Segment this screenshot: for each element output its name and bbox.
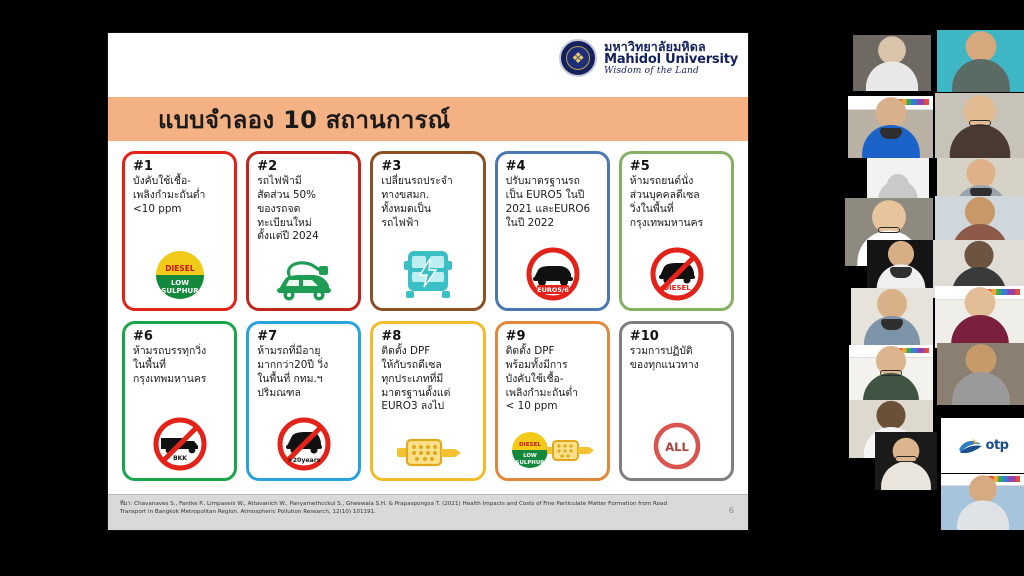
slide-header: ❖ มหาวิทยาลัยมหิดล Mahidol University Wi…: [108, 33, 748, 97]
scenario-card: #2รถไฟฟ้ามี สัดส่วน 50% ของรถจด ทะเบียนใ…: [246, 151, 361, 311]
svg-text:ALL: ALL: [665, 440, 689, 454]
participant-figure: [866, 37, 918, 91]
scenario-icon: BKK: [133, 387, 227, 477]
scenario-number: #5: [630, 160, 724, 174]
svg-text:DIESEL: DIESEL: [663, 284, 691, 292]
scenario-description: ติดตั้ง DPF ให้กับรถดีเซล ทุกประเภทที่มี…: [381, 345, 475, 414]
participant-figure: [956, 476, 1008, 530]
all-circle-icon: ALL: [650, 419, 704, 473]
scenario-number: #9: [506, 330, 600, 344]
participant-tile-1[interactable]: [853, 35, 931, 91]
scenario-number: #4: [506, 160, 600, 174]
participant-figure: [881, 438, 931, 490]
otp-logo-text: otp: [986, 438, 1009, 453]
participant-tile-11[interactable]: [851, 288, 933, 348]
scenario-card: #5ห้ามรถยนต์นั่ง ส่วนบุคคลดีเซล วิ่งในพื…: [619, 151, 734, 311]
scenario-card: #7ห้ามรถที่มีอายุ มากกว่า20ปี วิ่ง ในพื้…: [246, 321, 361, 481]
participant-tile-9[interactable]: [867, 240, 935, 292]
scenario-number: #1: [133, 160, 227, 174]
svg-text:SULPHUR: SULPHUR: [161, 287, 199, 295]
source-citation: ที่มา: Chavanaves S., Fantke P., Limpase…: [120, 500, 695, 517]
scenario-card: #6ห้ามรถบรรทุกวิ่ง ในพื้นที่ กรุงเทพมหาน…: [122, 321, 237, 481]
scenario-card: #3เปลี่ยนรถประจำ ทางขสมก. ทั้งหมดเป็น รถ…: [370, 151, 485, 311]
scenario-number: #10: [630, 330, 724, 344]
participant-tile-otp[interactable]: otp: [941, 418, 1024, 473]
scenario-description: ปรับมาตรฐานรถ เป็น EURO5 ในปี 2021 และEU…: [506, 175, 600, 230]
scenario-number: #3: [381, 160, 475, 174]
no-diesel-car-sign-icon: DIESEL: [648, 245, 706, 303]
eyeglasses: [969, 120, 991, 126]
scenario-description: ห้ามรถที่มีอายุ มากกว่า20ปี วิ่ง ในพื้นท…: [257, 345, 351, 400]
scenario-card: #4ปรับมาตรฐานรถ เป็น EURO5 ในปี 2021 และ…: [495, 151, 610, 311]
scenario-icon: >20years: [257, 400, 351, 476]
participant-figure: [951, 288, 1009, 348]
participant-tile-12[interactable]: [935, 286, 1024, 348]
electric-car-charging-icon: [271, 255, 337, 303]
eyeglasses: [895, 456, 917, 462]
scenario-description: บังคับใช้เชื้อ- เพลิงกำมะถันต่ำ <10 ppm: [133, 175, 227, 216]
slide-title-bar: แบบจำลอง 10 สถานการณ์: [108, 97, 748, 141]
scenario-card: #1บังคับใช้เชื้อ- เพลิงกำมะถันต่ำ <10 pp…: [122, 151, 237, 311]
slide-footer: ที่มา: Chavanaves S., Fantke P., Limpase…: [108, 494, 748, 530]
svg-text:EURO5/6: EURO5/6: [537, 286, 569, 294]
svg-text:LOW: LOW: [523, 453, 537, 459]
face-mask: [880, 128, 902, 139]
otp-logo-icon: [957, 436, 983, 456]
participant-tile-16[interactable]: [875, 432, 937, 490]
scenario-description: ห้ามรถยนต์นั่ง ส่วนบุคคลดีเซล วิ่งในพื้น…: [630, 175, 724, 230]
scenario-card: #9ติดตั้ง DPF พร้อมทั้งมีการ บังคับใช้เช…: [495, 321, 610, 481]
scenario-card: #10รวมการปฏิบัติ ของทุกแนวทาง ALL: [619, 321, 734, 481]
participant-figure: [949, 95, 1009, 158]
scenario-card: #8ติดตั้ง DPF ให้กับรถดีเซล ทุกประเภทที่…: [370, 321, 485, 481]
svg-text:DIESEL: DIESEL: [165, 264, 195, 273]
eyeglasses: [880, 370, 902, 376]
mahidol-seal-icon: ❖: [559, 39, 597, 77]
diesel-low-sulphur-badge: DIESEL LOW SULPHUR: [152, 247, 208, 303]
svg-text:>20years: >20years: [288, 457, 321, 464]
electric-bus-icon: [402, 247, 454, 303]
mahidol-university-logo: ❖ มหาวิทยาลัยมหิดล Mahidol University Wi…: [559, 39, 738, 77]
face-mask: [881, 319, 903, 330]
participant-tile-14[interactable]: [937, 343, 1024, 405]
svg-text:LOW: LOW: [171, 279, 189, 287]
slide-body: #1บังคับใช้เชื้อ- เพลิงกำมะถันต่ำ <10 pp…: [108, 141, 748, 494]
scenario-icon: EURO5/6: [506, 230, 600, 306]
participant-tile-3[interactable]: [848, 96, 933, 158]
scenario-number: #8: [381, 330, 475, 344]
no-car-euro-sign-icon: EURO5/6: [524, 245, 582, 303]
scenario-number: #7: [257, 330, 351, 344]
scenario-description: เปลี่ยนรถประจำ ทางขสมก. ทั้งหมดเป็น รถไฟ…: [381, 175, 475, 230]
participant-tile-13[interactable]: [849, 345, 933, 405]
scenario-description: รวมการปฏิบัติ ของทุกแนวทาง: [630, 345, 724, 372]
scenario-icon: [381, 230, 475, 306]
scenario-icon: ALL: [630, 373, 724, 476]
face-mask: [890, 267, 912, 278]
slide-title: แบบจำลอง 10 สถานการณ์: [158, 100, 450, 139]
scenario-grid: #1บังคับใช้เชื้อ- เพลิงกำมะถันต่ำ <10 pp…: [122, 151, 734, 481]
logo-english-name: Mahidol University: [604, 53, 738, 67]
participant-video-rail[interactable]: otp: [845, 0, 1024, 576]
scenario-description: ติดตั้ง DPF พร้อมทั้งมีการ บังคับใช้เชื้…: [506, 345, 600, 414]
dpf-filter-with-diesel-badge-icon: DIESEL LOW SULPHUR: [509, 427, 597, 473]
dpf-filter-icon: [391, 433, 465, 473]
participant-tile-18[interactable]: [941, 474, 1024, 530]
scenario-icon: DIESEL LOW SULPHUR: [133, 217, 227, 307]
scenario-description: รถไฟฟ้ามี สัดส่วน 50% ของรถจด ทะเบียนใหม…: [257, 175, 351, 244]
svg-text:DIESEL: DIESEL: [519, 442, 541, 448]
participant-figure: [952, 32, 1010, 92]
participant-tile-2[interactable]: [937, 30, 1024, 92]
scenario-number: #2: [257, 160, 351, 174]
scenario-icon: DIESEL: [630, 230, 724, 306]
scenario-icon: [257, 244, 351, 306]
participant-tile-4[interactable]: [935, 93, 1024, 158]
svg-text:BKK: BKK: [173, 455, 187, 462]
svg-text:SULPHUR: SULPHUR: [515, 460, 545, 466]
scenario-icon: DIESEL LOW SULPHUR: [506, 414, 600, 476]
logo-tagline: Wisdom of the Land: [604, 67, 738, 76]
participant-figure: [952, 345, 1010, 405]
eyeglasses: [878, 227, 900, 233]
no-old-car-sign-icon: >20years: [275, 415, 333, 473]
screen-share-view: ❖ มหาวิทยาลัยมหิดล Mahidol University Wi…: [0, 0, 1024, 576]
presentation-slide: ❖ มหาวิทยาลัยมหิดล Mahidol University Wi…: [108, 33, 748, 530]
scenario-description: ห้ามรถบรรทุกวิ่ง ในพื้นที่ กรุงเทพมหานคร: [133, 345, 227, 386]
scenario-icon: [381, 414, 475, 476]
no-truck-sign-icon: BKK: [151, 415, 209, 473]
scenario-number: #6: [133, 330, 227, 344]
page-number: 6: [729, 506, 734, 515]
